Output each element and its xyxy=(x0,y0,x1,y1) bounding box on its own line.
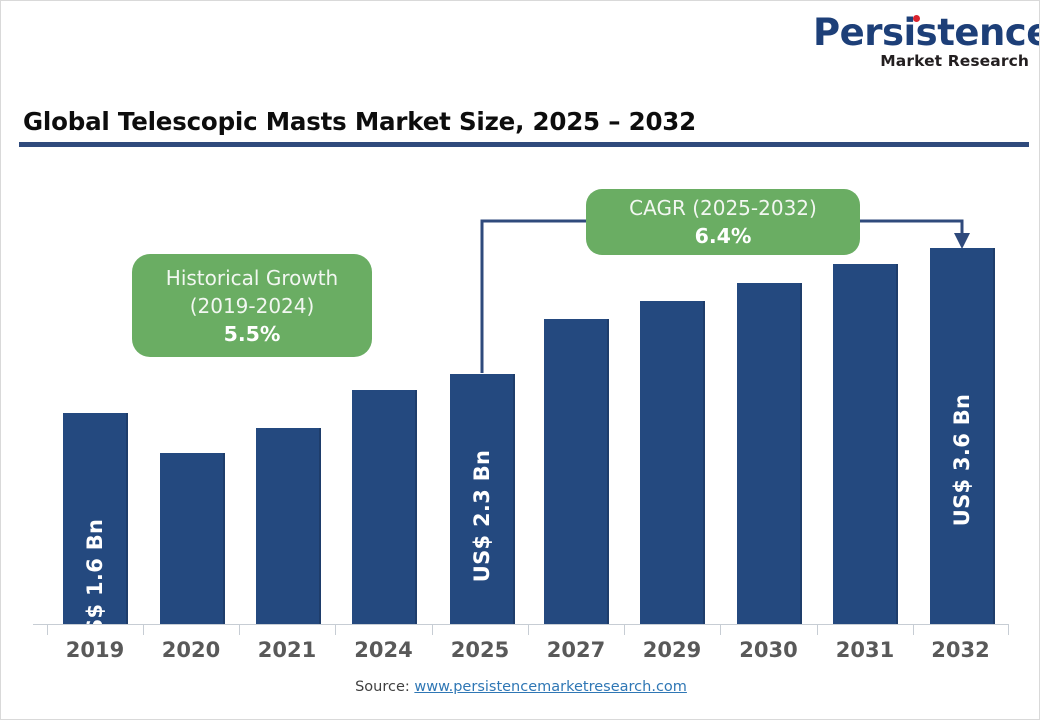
cagr-line1: CAGR (2025-2032) xyxy=(629,194,817,222)
x-axis-tick xyxy=(817,624,818,635)
bar-2029 xyxy=(640,301,705,624)
x-axis-label-2021: 2021 xyxy=(239,638,335,662)
x-axis-label-2024: 2024 xyxy=(335,638,432,662)
bar-2027 xyxy=(544,319,609,624)
x-axis-line xyxy=(33,624,1009,625)
x-axis-label-2032: 2032 xyxy=(913,638,1008,662)
bar-2032: US$ 3.6 Bn xyxy=(930,248,995,624)
bar-value-label-2019: US$ 1.6 Bn xyxy=(83,519,107,652)
chart-page: Persistence Market Research Global Teles… xyxy=(0,0,1040,720)
bar-2024 xyxy=(352,390,417,624)
x-axis-label-2030: 2030 xyxy=(720,638,817,662)
x-axis-label-2031: 2031 xyxy=(817,638,913,662)
x-axis-label-2027: 2027 xyxy=(528,638,624,662)
x-axis-label-2025: 2025 xyxy=(432,638,528,662)
x-axis-label-2029: 2029 xyxy=(624,638,720,662)
bar-2021 xyxy=(256,428,321,624)
x-axis-tick xyxy=(47,624,48,635)
bar-value-label-2032: US$ 3.6 Bn xyxy=(950,394,974,527)
bar-2019: US$ 1.6 Bn xyxy=(63,413,128,624)
x-axis-tick xyxy=(1008,624,1009,635)
source-prefix: Source: xyxy=(355,679,414,695)
x-axis-tick xyxy=(143,624,144,635)
bar-value-label-2025: US$ 2.3 Bn xyxy=(470,450,494,583)
source-link[interactable]: www.persistencemarketresearch.com xyxy=(414,679,687,695)
bar-2031 xyxy=(833,264,898,624)
source-line: Source: www.persistencemarketresearch.co… xyxy=(1,679,1040,695)
historical-growth-value: 5.5% xyxy=(224,320,281,348)
x-axis-label-2019: 2019 xyxy=(47,638,143,662)
historical-growth-line2: (2019-2024) xyxy=(190,292,315,320)
cagr-callout: CAGR (2025-2032) 6.4% xyxy=(586,189,860,255)
historical-growth-line1: Historical Growth xyxy=(166,264,338,292)
bar-2020 xyxy=(160,453,225,624)
cagr-value: 6.4% xyxy=(695,222,752,250)
bar-2030 xyxy=(737,283,802,624)
x-axis-tick xyxy=(624,624,625,635)
x-axis-tick xyxy=(913,624,914,635)
x-axis-tick xyxy=(239,624,240,635)
historical-growth-callout: Historical Growth (2019-2024) 5.5% xyxy=(132,254,372,357)
x-axis-tick xyxy=(528,624,529,635)
x-axis-label-2020: 2020 xyxy=(143,638,239,662)
bar-chart-plot: US$ 1.6 Bn US$ 2.3 Bn US$ 3.6 Bn 2019 20… xyxy=(1,1,1040,720)
x-axis-tick xyxy=(720,624,721,635)
x-axis-tick xyxy=(335,624,336,635)
bar-2025: US$ 2.3 Bn xyxy=(450,374,515,624)
x-axis-tick xyxy=(432,624,433,635)
